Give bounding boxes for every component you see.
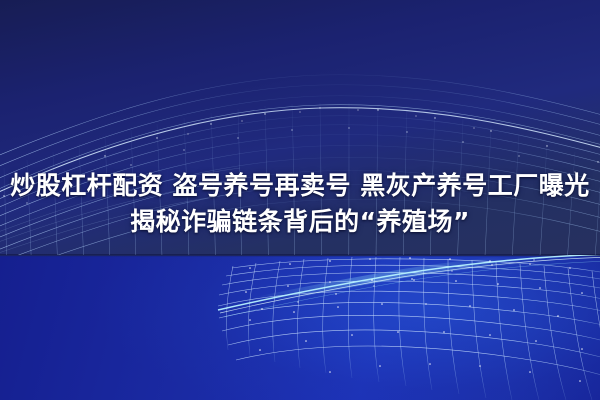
- article-banner: 炒股杠杆配资 盗号养号再卖号 黑灰产养号工厂曝光 揭秘诈骗链条背后的“养殖场”: [0, 0, 600, 400]
- headline-text: 炒股杠杆配资 盗号养号再卖号 黑灰产养号工厂曝光 揭秘诈骗链条背后的“养殖场”: [0, 168, 600, 240]
